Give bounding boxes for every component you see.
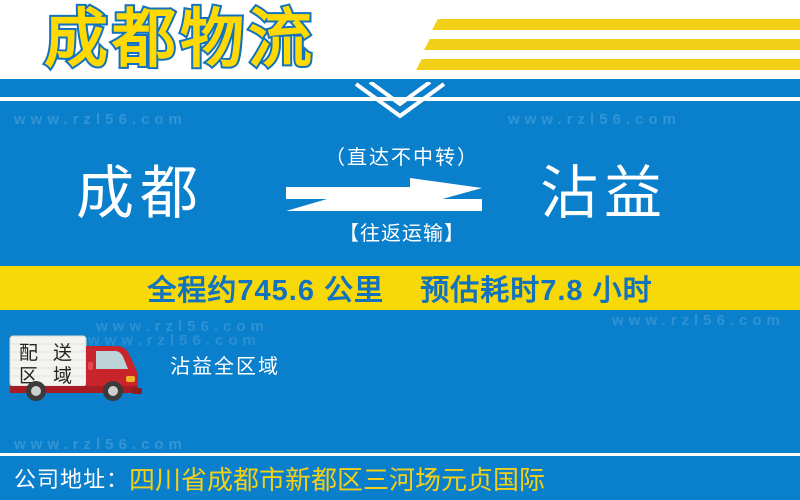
info-band: 全程约745.6 公里 预估耗时7.8 小时	[0, 266, 800, 310]
double-headed-arrow-icon	[286, 178, 482, 220]
decorative-stripe-3	[416, 59, 800, 70]
delivery-area-label: 沾益全区域	[170, 350, 280, 379]
decorative-stripe-1	[432, 19, 800, 30]
watermark: www.rzl56.com	[612, 312, 785, 329]
delivery-area-row: 配 送 区 域 沾益全区域	[0, 330, 800, 406]
decorative-stripe-2	[424, 39, 800, 50]
watermark: www.rzl56.com	[14, 111, 187, 128]
origin-city: 成都	[76, 150, 204, 238]
route-section: 成都 沾益 （直达不中转） 【往返运输】	[0, 150, 800, 260]
header-band: 成都物流	[0, 0, 800, 79]
company-address-bar: 公司地址： 四川省成都市新都区三河场元贞国际	[0, 456, 800, 500]
route-note: （直达不中转）	[292, 144, 512, 172]
address-label: 公司地址：	[14, 462, 129, 494]
svg-text:送: 送	[53, 342, 72, 364]
svg-text:配: 配	[19, 343, 38, 364]
route-mode: 【往返运输】	[292, 220, 512, 248]
logistics-banner: 成都物流 www.rzl56.com www.rzl56.com www.rzl…	[0, 0, 800, 500]
watermark: www.rzl56.com	[14, 436, 187, 453]
distance-duration-text: 全程约745.6 公里 预估耗时7.8 小时	[0, 266, 800, 310]
watermark: www.rzl56.com	[508, 111, 681, 128]
destination-city: 沾益	[540, 150, 668, 238]
address-value: 四川省成都市新都区三河场元贞国际	[129, 460, 545, 497]
chevron-down-icon	[352, 82, 448, 122]
page-title: 成都物流	[44, 2, 316, 76]
delivery-truck-icon: 配 送 区 域	[8, 332, 156, 402]
svg-text:域: 域	[53, 365, 72, 387]
